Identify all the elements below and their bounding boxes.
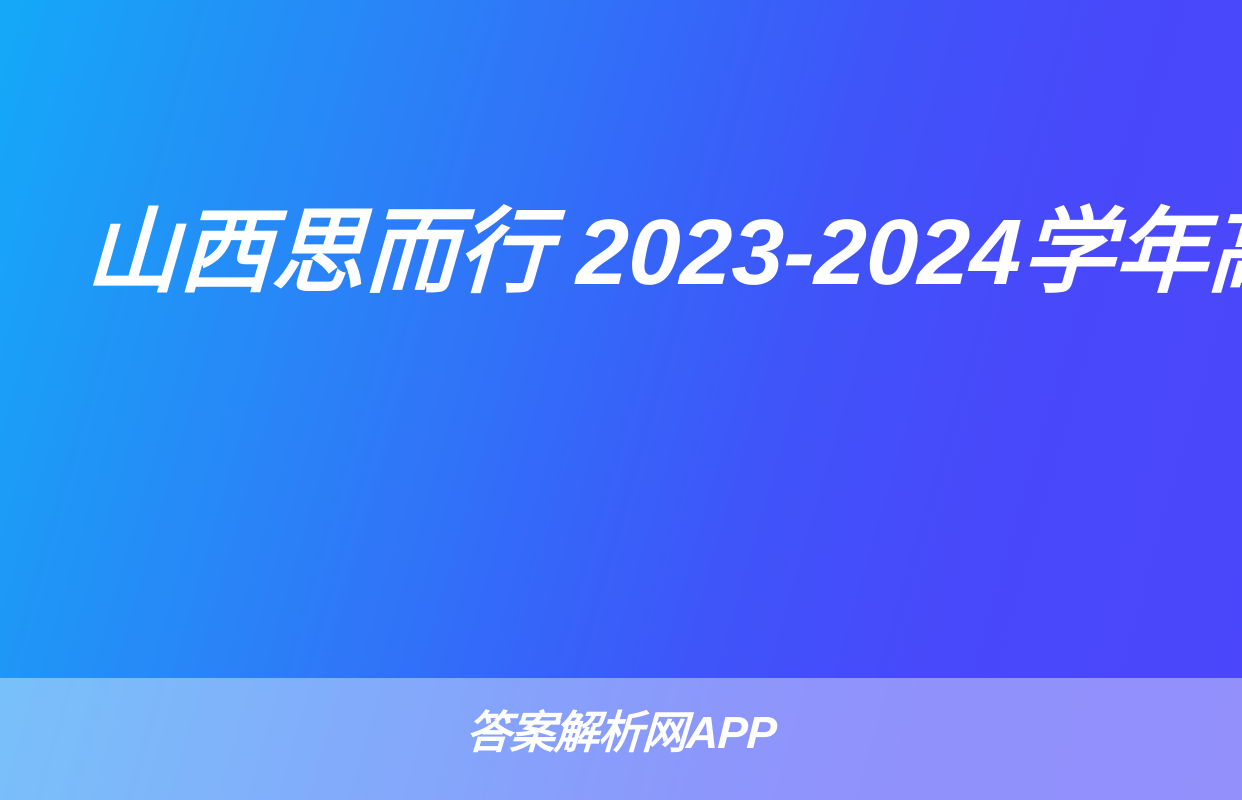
- poster-canvas: 山西思而行 2023-2024学年高一年级1月联考语文答案 答案解析网APP: [0, 0, 1242, 800]
- watermark-label: 答案解析网APP: [0, 705, 1242, 761]
- page-title-text: 山西思而行 2023-2024学年高一年级1月联考语文答案: [83, 178, 1158, 326]
- page-title: 山西思而行 2023-2024学年高一年级1月联考语文答案: [0, 178, 1242, 326]
